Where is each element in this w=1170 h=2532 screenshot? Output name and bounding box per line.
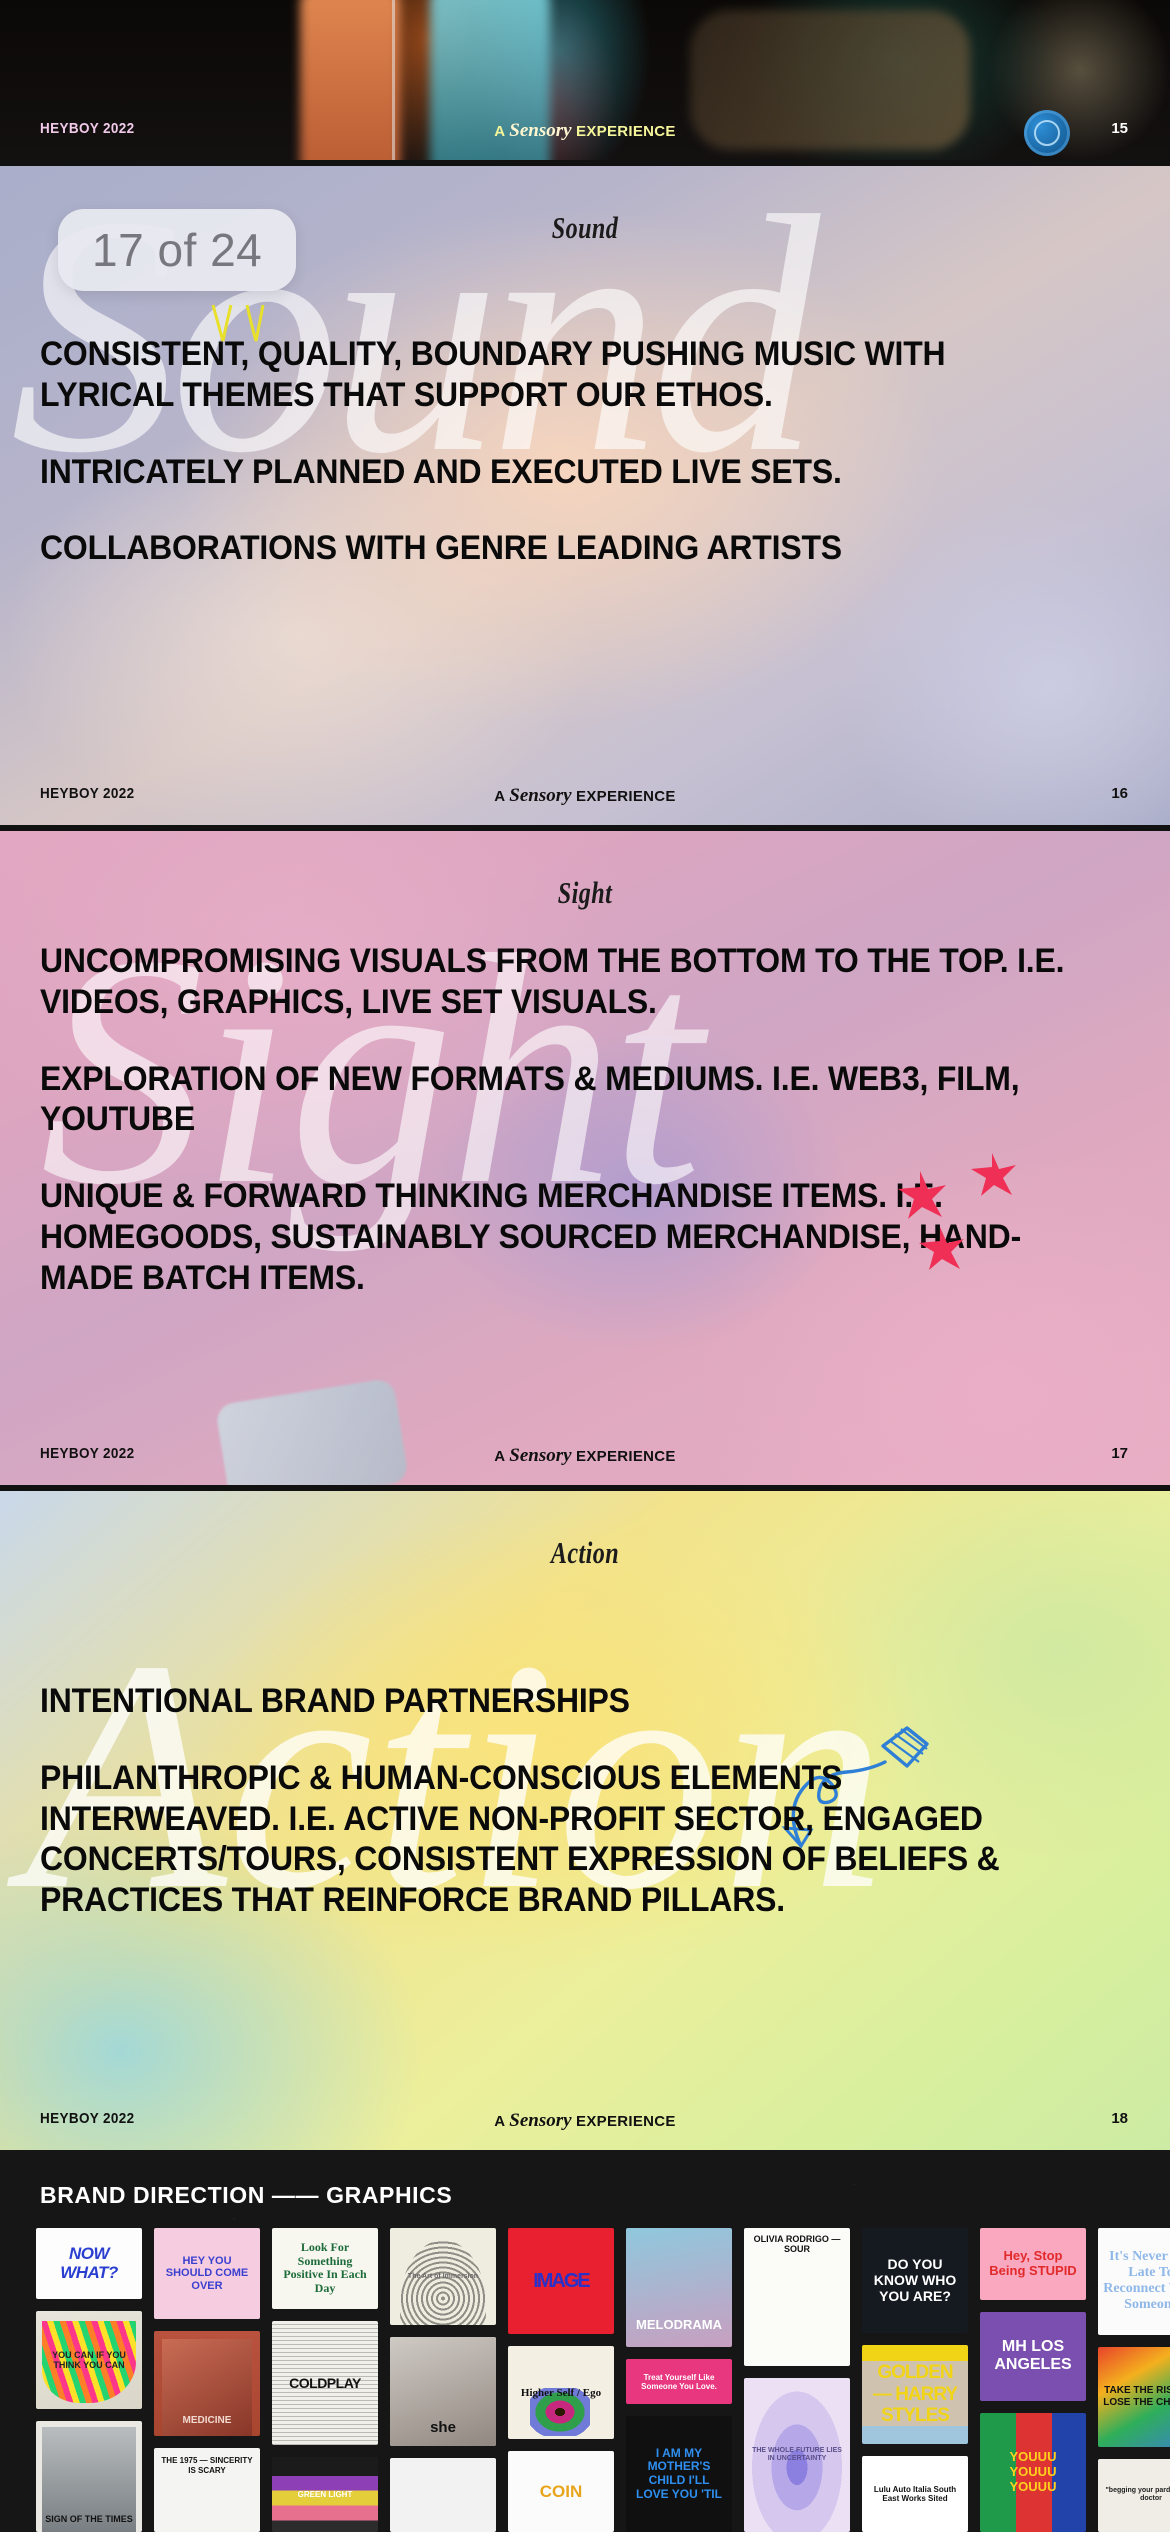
- graphics-column: The Art of Immersionshe: [390, 2228, 496, 2532]
- graphic-card-label: Treat Yourself Like Someone You Love.: [631, 2373, 727, 2391]
- graphic-card[interactable]: COLDPLAY: [272, 2321, 378, 2445]
- slide-action-body: INTENTIONAL BRAND PARTNERSHIPS PHILANTHR…: [40, 1681, 1076, 1921]
- graphics-column: Hey, Stop Being STUPIDMH LOS ANGELESYOUU…: [980, 2228, 1086, 2532]
- graphic-card-label: The Art of Immersion: [408, 2273, 478, 2281]
- graphics-column: OLIVIA RODRIGO — SOURTHE WHOLE FUTURE LI…: [744, 2228, 850, 2532]
- graphics-column: MELODRAMATreat Yourself Like Someone You…: [626, 2228, 732, 2532]
- slide-brand-direction-graphics[interactable]: BRAND DIRECTION —— GRAPHICS NOW WHAT?YOU…: [0, 2150, 1170, 2532]
- graphic-card[interactable]: It's Never Too Late To Reconnect With So…: [1098, 2228, 1170, 2335]
- footer-tagline-a: A: [494, 123, 509, 140]
- graphic-card-label: It's Never Too Late To Reconnect With So…: [1103, 2249, 1170, 2313]
- page-number: 17: [1111, 1445, 1128, 1462]
- graphic-card-label: COIN: [540, 2482, 583, 2502]
- graphic-card[interactable]: THE 1975 — SINCERITY IS SCARY: [154, 2448, 260, 2532]
- graphic-card-label: MH LOS ANGELES: [985, 2338, 1081, 2375]
- page-indicator-label: 17 of 24: [92, 224, 262, 276]
- graphic-card[interactable]: DO YOU KNOW WHO YOU ARE?: [862, 2228, 968, 2333]
- slide-sight[interactable]: Sight Sight UNCOMPROMISING VISUALS FROM …: [0, 828, 1170, 1488]
- graphics-column: HEY YOU SHOULD COME OVERMEDICINETHE 1975…: [154, 2228, 260, 2532]
- graphic-card-label: "begging your pardon," the doctor: [1103, 2487, 1170, 2503]
- graphics-masonry-grid: NOW WHAT?YOU CAN IF YOU THINK YOU CANSIG…: [36, 2228, 1170, 2532]
- slide-sound-paragraph-1: CONSISTENT, QUALITY, BOUNDARY PUSHING MU…: [40, 334, 1076, 416]
- slide-action-eyebrow: Action: [129, 1535, 1042, 1571]
- footer-tagline: A Sensory EXPERIENCE: [0, 2110, 1170, 2132]
- graphic-card-label: OLIVIA RODRIGO — SOUR: [749, 2234, 845, 2255]
- footer-tagline: A Sensory EXPERIENCE: [0, 785, 1170, 807]
- graphic-card-label: IMAGE: [533, 2270, 589, 2293]
- graphic-card[interactable]: SIGN OF THE TIMES: [36, 2421, 142, 2532]
- graphic-card[interactable]: [390, 2458, 496, 2532]
- slide-photo[interactable]: HEYBOY 2022 A Sensory EXPERIENCE 15: [0, 0, 1170, 163]
- graphic-card[interactable]: COIN: [508, 2451, 614, 2532]
- footer-tagline-b: EXPERIENCE: [572, 1448, 676, 1465]
- page-number: 18: [1111, 2110, 1128, 2127]
- graphic-card[interactable]: Higher Self / Ego: [508, 2346, 614, 2439]
- footer-tagline-italic: Sensory: [509, 2110, 571, 2131]
- page-indicator-pill[interactable]: 17 of 24: [58, 209, 296, 291]
- graphic-card-label: HEY YOU SHOULD COME OVER: [159, 2255, 255, 2293]
- graphic-card-label: YOUUU YOUUU YOUUU: [985, 2450, 1081, 2495]
- graphic-card[interactable]: The Art of Immersion: [390, 2228, 496, 2325]
- footer-tagline-b: EXPERIENCE: [572, 2113, 676, 2130]
- slide-sound-paragraph-3: COLLABORATIONS WITH GENRE LEADING ARTIST…: [40, 528, 1076, 569]
- board-title: BRAND DIRECTION —— GRAPHICS: [40, 2182, 452, 2209]
- graphic-card[interactable]: YOU CAN IF YOU THINK YOU CAN: [36, 2311, 142, 2409]
- graphic-card[interactable]: Hey, Stop Being STUPID: [980, 2228, 1086, 2300]
- footer-tagline-b: EXPERIENCE: [572, 788, 676, 805]
- slide-sight-eyebrow: Sight: [129, 875, 1042, 911]
- graphic-card-label: Lulu Auto Italia South East Works Sited: [867, 2485, 963, 2503]
- slide-action[interactable]: Action Action INTENTIONAL BRAND PARTNERS…: [0, 1488, 1170, 2153]
- graphic-card-label: MEDICINE: [183, 2415, 232, 2427]
- graphic-card-label: NOW WHAT?: [41, 2244, 137, 2283]
- graphic-card-label: GOLDEN — HARRY STYLES: [867, 2362, 963, 2428]
- footer-tagline: A Sensory EXPERIENCE: [0, 120, 1170, 142]
- footer-tagline: A Sensory EXPERIENCE: [0, 1445, 1170, 1467]
- graphic-card-label: COLDPLAY: [289, 2375, 361, 2391]
- slide-action-footer: HEYBOY 2022 A Sensory EXPERIENCE 18: [0, 2110, 1170, 2132]
- footer-tagline-italic: Sensory: [509, 785, 571, 806]
- graphics-column: Look For Something Positive In Each DayC…: [272, 2228, 378, 2532]
- graphic-card[interactable]: THE WHOLE FUTURE LIES IN UNCERTAINTY: [744, 2378, 850, 2532]
- graphic-card[interactable]: IMAGE: [508, 2228, 614, 2334]
- graphic-card-label: Hey, Stop Being STUPID: [985, 2249, 1081, 2279]
- footer-tagline-a: A: [494, 1448, 509, 1465]
- footer-tagline-a: A: [494, 788, 509, 805]
- graphic-card-label: THE 1975 — SINCERITY IS SCARY: [159, 2456, 255, 2474]
- footer-tagline-italic: Sensory: [509, 120, 571, 141]
- slide-sound-body: CONSISTENT, QUALITY, BOUNDARY PUSHING MU…: [40, 334, 1076, 569]
- slide-sound-paragraph-2: INTRICATELY PLANNED AND EXECUTED LIVE SE…: [40, 452, 1076, 493]
- footer-tagline-italic: Sensory: [509, 1445, 571, 1466]
- graphic-card[interactable]: MELODRAMA: [626, 2228, 732, 2347]
- graphic-card[interactable]: she: [390, 2337, 496, 2446]
- graphic-card-label: DO YOU KNOW WHO YOU ARE?: [867, 2256, 963, 2304]
- graphic-card[interactable]: Lulu Auto Italia South East Works Sited: [862, 2456, 968, 2532]
- graphic-card[interactable]: GOLDEN — HARRY STYLES: [862, 2345, 968, 2445]
- graphic-card-label: GREEN LIGHT: [298, 2490, 353, 2499]
- graphic-card[interactable]: GREEN LIGHT: [272, 2457, 378, 2532]
- graphic-card[interactable]: MH LOS ANGELES: [980, 2312, 1086, 2402]
- graphic-card[interactable]: NOW WHAT?: [36, 2228, 142, 2299]
- slide-sound-footer: HEYBOY 2022 A Sensory EXPERIENCE 16: [0, 785, 1170, 807]
- graphic-card-label: Higher Self / Ego: [521, 2387, 601, 2400]
- slide-deck-viewer[interactable]: HEYBOY 2022 A Sensory EXPERIENCE 15 Soun…: [0, 0, 1170, 2532]
- graphic-card[interactable]: HEY YOU SHOULD COME OVER: [154, 2228, 260, 2319]
- graphic-card-label: MELODRAMA: [636, 2318, 722, 2333]
- page-number: 16: [1111, 785, 1128, 802]
- graphic-card[interactable]: Look For Something Positive In Each Day: [272, 2228, 378, 2309]
- graphics-column: IMAGEHigher Self / EgoCOIN: [508, 2228, 614, 2532]
- slide-sight-footer: HEYBOY 2022 A Sensory EXPERIENCE 17: [0, 1445, 1170, 1467]
- graphic-card-label: THE WHOLE FUTURE LIES IN UNCERTAINTY: [749, 2447, 845, 2463]
- red-star-doodles-icon: [880, 1131, 1080, 1281]
- footer-tagline-b: EXPERIENCE: [572, 123, 676, 140]
- graphics-column: DO YOU KNOW WHO YOU ARE?GOLDEN — HARRY S…: [862, 2228, 968, 2532]
- slide-action-paragraph-1: INTENTIONAL BRAND PARTNERSHIPS: [40, 1681, 1076, 1722]
- graphic-card-label: I AM MY MOTHER'S CHILD I'LL LOVE YOU 'TI…: [631, 2447, 727, 2502]
- graphic-card-label: SIGN OF THE TIMES: [45, 2514, 133, 2524]
- graphic-card[interactable]: MEDICINE: [154, 2331, 260, 2436]
- graphic-card-label: YOU CAN IF YOU THINK YOU CAN: [41, 2350, 137, 2371]
- graphic-card[interactable]: OLIVIA RODRIGO — SOUR: [744, 2228, 850, 2366]
- graphics-column: NOW WHAT?YOU CAN IF YOU THINK YOU CANSIG…: [36, 2228, 142, 2532]
- graphic-card-label: she: [430, 2419, 456, 2436]
- slide-sight-paragraph-1: UNCOMPROMISING VISUALS FROM THE BOTTOM T…: [40, 941, 1076, 1023]
- graphic-card[interactable]: YOUUU YOUUU YOUUU: [980, 2413, 1086, 2532]
- circular-emblem-icon: [1024, 110, 1070, 156]
- graphics-column: It's Never Too Late To Reconnect With So…: [1098, 2228, 1170, 2532]
- graphic-card[interactable]: TAKE THE RISK OR LOSE THE CHANCE: [1098, 2347, 1170, 2447]
- footer-tagline-a: A: [494, 2113, 509, 2130]
- graphic-card[interactable]: I AM MY MOTHER'S CHILD I'LL LOVE YOU 'TI…: [626, 2416, 732, 2532]
- graphic-card[interactable]: Treat Yourself Like Someone You Love.: [626, 2359, 732, 2404]
- slide-sight-paragraph-2: EXPLORATION OF NEW FORMATS & MEDIUMS. I.…: [40, 1059, 1076, 1141]
- graphic-card[interactable]: "begging your pardon," the doctor: [1098, 2459, 1170, 2532]
- slide-action-paragraph-2: PHILANTHROPIC & HUMAN-CONSCIOUS ELEMENTS…: [40, 1758, 1076, 1921]
- page-number: 15: [1111, 120, 1128, 137]
- graphic-card-label: Look For Something Positive In Each Day: [277, 2241, 373, 2296]
- graphic-card-label: TAKE THE RISK OR LOSE THE CHANCE: [1103, 2385, 1170, 2408]
- slide-photo-footer: HEYBOY 2022 A Sensory EXPERIENCE 15: [0, 120, 1170, 142]
